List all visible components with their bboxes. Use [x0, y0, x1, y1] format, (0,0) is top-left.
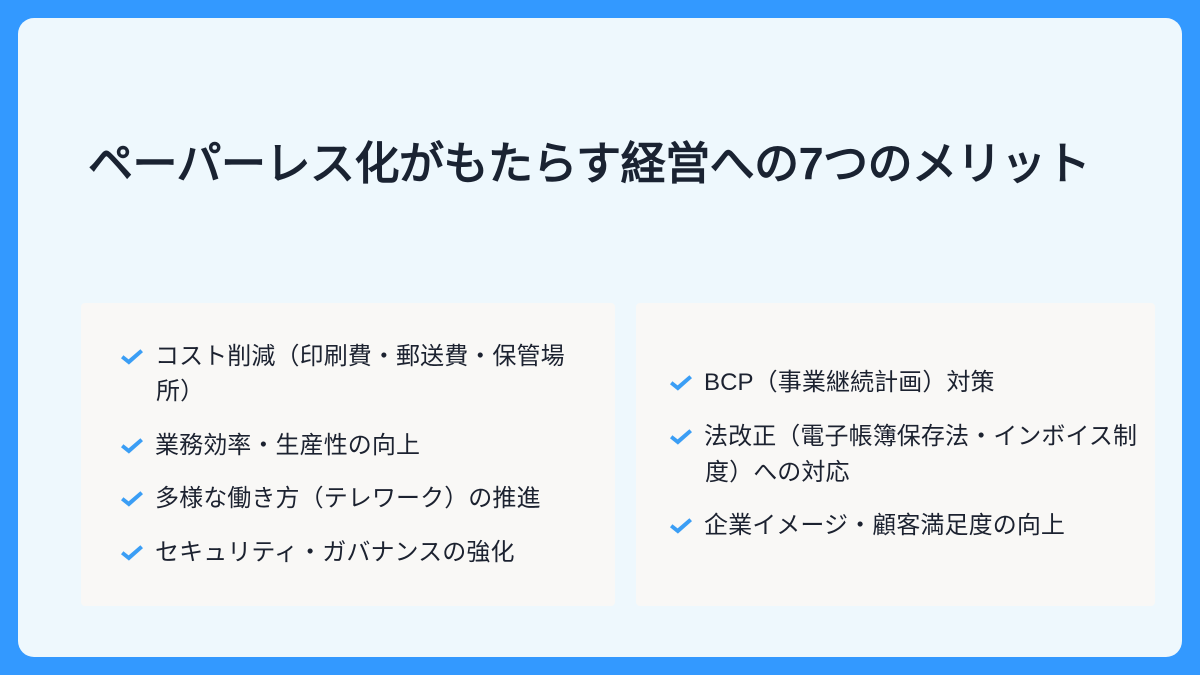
list-item: 業務効率・生産性の向上 [117, 428, 589, 464]
benefits-card-right: BCP（事業継続計画）対策 法改正（電子帳簿保存法・インボイス制度）への対応 企… [636, 303, 1155, 606]
list-item-label: BCP（事業継続計画）対策 [705, 365, 995, 401]
page-title: ペーパーレス化がもたらす経営への7つのメリット [88, 136, 1148, 192]
list-item-label: コスト削減（印刷費・郵送費・保管場所） [156, 339, 589, 410]
check-icon [117, 538, 147, 568]
list-item-label: 法改正（電子帳簿保存法・インボイス制度）への対応 [705, 419, 1145, 490]
check-icon [666, 511, 696, 541]
list-item: 多様な働き方（テレワーク）の推進 [117, 481, 589, 517]
list-item: 法改正（電子帳簿保存法・インボイス制度）への対応 [666, 419, 1145, 490]
check-icon [117, 484, 147, 514]
list-item: BCP（事業継続計画）対策 [666, 365, 1145, 401]
slide-inner-panel: ペーパーレス化がもたらす経営への7つのメリット コスト削減（印刷費・郵送費・保管… [18, 18, 1182, 657]
check-icon [666, 422, 696, 452]
list-item: 企業イメージ・顧客満足度の向上 [666, 508, 1145, 544]
benefits-list-left: コスト削減（印刷費・郵送費・保管場所） 業務効率・生産性の向上 多様な働き方（テ… [81, 303, 615, 606]
list-item-label: 多様な働き方（テレワーク）の推進 [156, 481, 541, 517]
check-icon [117, 431, 147, 461]
benefits-card-left: コスト削減（印刷費・郵送費・保管場所） 業務効率・生産性の向上 多様な働き方（テ… [81, 303, 615, 606]
slide-root: ペーパーレス化がもたらす経営への7つのメリット コスト削減（印刷費・郵送費・保管… [0, 0, 1200, 675]
check-icon [666, 368, 696, 398]
benefits-list-right: BCP（事業継続計画）対策 法改正（電子帳簿保存法・インボイス制度）への対応 企… [636, 303, 1155, 606]
check-icon [117, 342, 147, 372]
list-item: セキュリティ・ガバナンスの強化 [117, 535, 589, 571]
list-item: コスト削減（印刷費・郵送費・保管場所） [117, 339, 589, 410]
list-item-label: 業務効率・生産性の向上 [156, 428, 420, 464]
list-item-label: 企業イメージ・顧客満足度の向上 [705, 508, 1065, 544]
list-item-label: セキュリティ・ガバナンスの強化 [156, 535, 515, 571]
